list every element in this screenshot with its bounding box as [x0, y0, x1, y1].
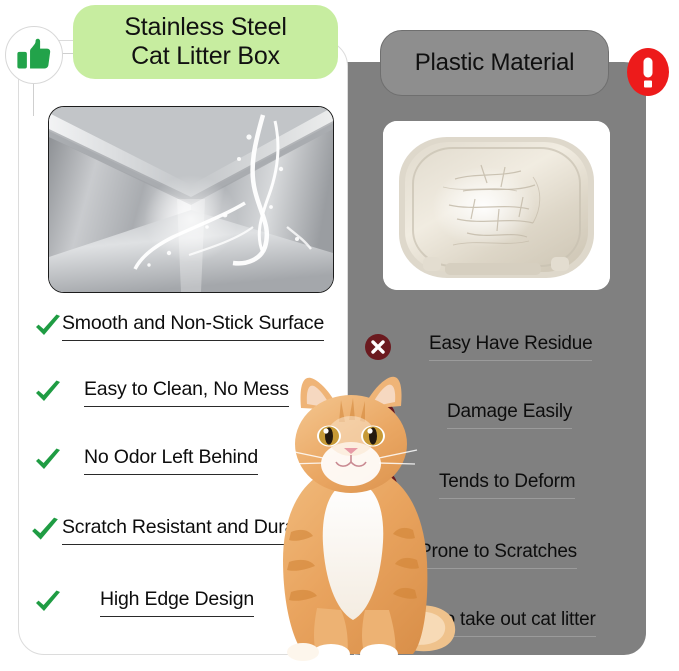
list-item-label: Easy to take out cat litter [393, 609, 596, 631]
check-icon [34, 590, 62, 616]
list-item-underline [62, 340, 324, 341]
steel-corner-illustration [49, 107, 333, 292]
x-circle-icon [369, 471, 397, 499]
list-item: Smooth and Non-Stick Surface [34, 312, 324, 341]
list-item: Easy Have Residue [365, 333, 592, 361]
plastic-drawback-list: Easy Have Residue Damage Easily Tends to… [355, 325, 645, 650]
list-item-label: Smooth and Non-Stick Surface [62, 312, 324, 335]
list-item-label: No Odor Left Behind [84, 446, 258, 469]
page-title-line-2: Cat Litter Box [131, 42, 280, 71]
list-item: Easy to Clean, No Mess [34, 378, 289, 407]
check-icon [34, 380, 62, 406]
list-item: Scratch Resistant and Durable [30, 516, 321, 545]
x-circle-icon [365, 609, 393, 637]
x-circle-icon [365, 542, 391, 568]
list-item-label: Easy Have Residue [429, 333, 592, 355]
plastic-litter-box-illustration [383, 121, 610, 290]
list-item-underline [100, 616, 254, 617]
list-item-underline [393, 636, 596, 637]
comparison-infographic: Stainless Steel Cat Litter Box Plastic M… [0, 0, 679, 671]
list-item-label: Damage Easily [447, 401, 572, 423]
list-item-underline [84, 406, 289, 407]
check-icon [30, 517, 60, 545]
list-item-label: Scratch Resistant and Durable [62, 516, 321, 539]
thumbs-up-icon [15, 36, 53, 74]
alert-badge [626, 47, 670, 97]
list-item-label: High Edge Design [100, 588, 254, 611]
page-title-line-1: Stainless Steel [124, 13, 286, 42]
x-circle-icon [365, 334, 391, 360]
list-item-underline [84, 474, 258, 475]
list-item-underline [62, 544, 321, 545]
x-circle-icon [369, 402, 395, 428]
list-item-label: Easy to Clean, No Mess [84, 378, 289, 401]
list-item-underline [439, 498, 575, 499]
list-item: High Edge Design [34, 588, 254, 617]
list-item-underline [429, 360, 592, 361]
stainless-steel-title-pill: Stainless Steel Cat Litter Box [73, 5, 338, 79]
plastic-title: Plastic Material [415, 49, 575, 77]
stainless-steel-feature-list: Smooth and Non-Stick Surface Easy to Cle… [18, 300, 348, 650]
list-item-label: Prone to Scratches [419, 541, 577, 563]
list-item-underline [419, 568, 577, 569]
list-item: Easy to take out cat litter [365, 609, 596, 637]
thumbs-up-badge [5, 26, 63, 84]
badge-connector-line-vertical [33, 80, 34, 116]
alert-exclamation-icon [626, 47, 670, 97]
list-item: No Odor Left Behind [34, 446, 258, 475]
list-item-label: Tends to Deform [439, 471, 575, 493]
list-item-underline [447, 428, 572, 429]
list-item: Tends to Deform [369, 471, 575, 499]
check-icon [34, 314, 62, 340]
list-item: Damage Easily [369, 401, 572, 429]
plastic-title-pill: Plastic Material [380, 30, 609, 96]
stainless-steel-product-photo [48, 106, 334, 293]
list-item: Prone to Scratches [365, 541, 577, 569]
check-icon [34, 448, 62, 474]
plastic-product-photo [383, 121, 610, 290]
